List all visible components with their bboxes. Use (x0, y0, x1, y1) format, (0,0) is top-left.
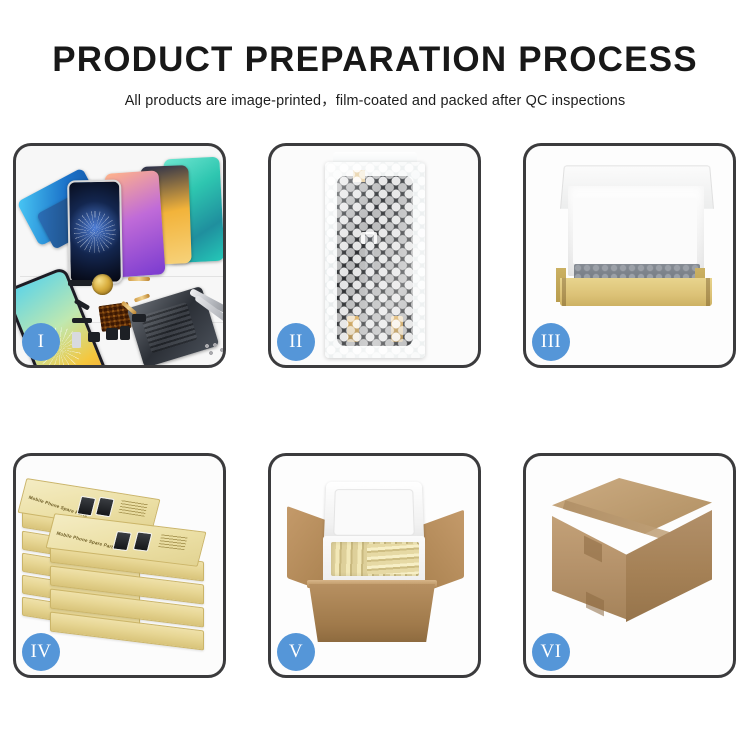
step-badge-6: VI (532, 633, 570, 671)
page-header: PRODUCT PREPARATION PROCESS All products… (0, 0, 750, 110)
process-step-1[interactable]: I (13, 143, 226, 368)
page-title: PRODUCT PREPARATION PROCESS (0, 0, 750, 79)
process-step-3[interactable]: III (523, 143, 736, 368)
step-badge-1: I (22, 323, 60, 361)
process-step-4[interactable]: Mobile Phone Spare Parts Mobile Phone Sp… (13, 453, 226, 678)
step-badge-2: II (277, 323, 315, 361)
process-step-2[interactable]: II (268, 143, 481, 368)
process-step-6[interactable]: VI (523, 453, 736, 678)
process-step-grid: I II (13, 143, 737, 678)
page-subtitle: All products are image-printed，film-coat… (0, 79, 750, 110)
step-badge-4: IV (22, 633, 60, 671)
box-label-front: Mobile Phone Spare Parts (56, 531, 117, 550)
step-badge-5: V (277, 633, 315, 671)
step-badge-3: III (532, 323, 570, 361)
process-step-5[interactable]: V (268, 453, 481, 678)
